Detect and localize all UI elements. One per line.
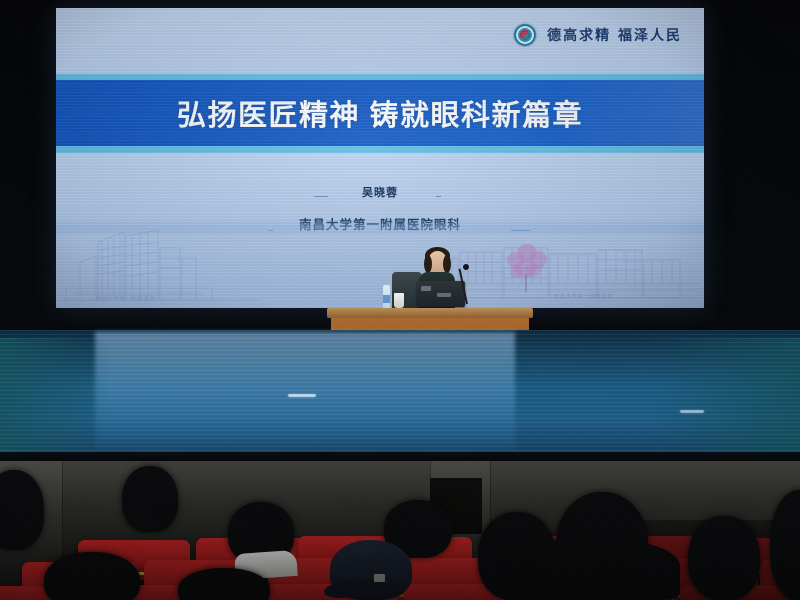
projection-screen: 德高求精 福泽人民 弘扬医匠精神 铸就眼科新篇章 吴晓蓉 南昌大学第一附属医院眼… xyxy=(56,8,704,308)
stage-glint xyxy=(288,394,316,397)
slide-title-banner: 弘扬医匠精神 铸就眼科新篇章 xyxy=(56,80,704,146)
hospital-building-art-left: 南昌大学第一附属医院 xyxy=(62,226,262,304)
speaker-hair-left xyxy=(424,255,432,273)
slide-logo-row: 德高求精 福泽人民 xyxy=(514,24,682,46)
attendee-head xyxy=(44,552,140,600)
blossom-tree-icon xyxy=(505,244,549,294)
attendee-head xyxy=(688,516,760,600)
microphone-icon xyxy=(463,264,469,270)
presenter-name: 吴晓蓉 xyxy=(56,184,704,200)
podium-top-surface xyxy=(327,308,533,318)
paper-cup-icon xyxy=(394,293,404,308)
presentation-slide: 德高求精 福泽人民 弘扬医匠精神 铸就眼科新篇章 吴晓蓉 南昌大学第一附属医院眼… xyxy=(56,8,704,308)
laptop-glint xyxy=(421,286,431,291)
cap-logo-icon xyxy=(374,574,385,582)
banner-bottom-rule xyxy=(56,146,704,153)
slide-title: 弘扬医匠精神 铸就眼科新篇章 xyxy=(177,92,583,134)
building-caption-right: 南昌大学第一附属医院 xyxy=(554,293,614,300)
decorative-dash xyxy=(314,196,328,197)
bottle-label xyxy=(383,295,390,303)
building-caption-left: 南昌大学第一附属医院 xyxy=(96,295,156,302)
logo-calligraphy-text: 德高求精 福泽人民 xyxy=(547,25,682,45)
building-left-svg xyxy=(62,226,262,304)
laptop-glint xyxy=(437,293,451,297)
stage-glint xyxy=(680,410,704,413)
stage-front-edge xyxy=(0,452,800,461)
speaker-hair-right xyxy=(443,255,451,273)
hospital-building-art-right: 南昌大学第一附属医院 xyxy=(428,240,698,302)
attendee-head xyxy=(122,466,178,532)
hospital-emblem-icon xyxy=(514,24,536,46)
attendee-shoulders xyxy=(500,538,680,600)
stage-reflection-streaks xyxy=(0,330,800,458)
decorative-dash xyxy=(436,196,441,197)
auditorium-scene: 德高求精 福泽人民 弘扬医匠精神 铸就眼科新篇章 吴晓蓉 南昌大学第一附属医院眼… xyxy=(0,0,800,600)
attendee-head xyxy=(178,568,270,600)
water-bottle-icon xyxy=(383,285,390,309)
laptop-icon xyxy=(417,281,465,307)
attendee-baseball-cap xyxy=(330,540,412,600)
